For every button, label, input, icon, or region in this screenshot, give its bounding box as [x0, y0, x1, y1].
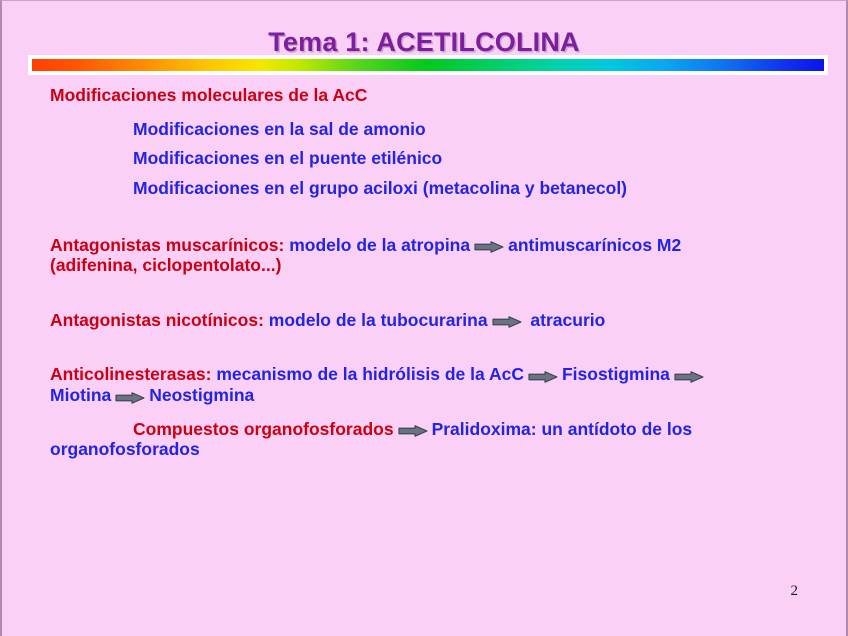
spacer [2, 330, 848, 364]
section1-item-1: Modificaciones en el puente etilénico [2, 148, 848, 169]
section3-label: Antagonistas nicotínicos: [50, 310, 264, 330]
section3-model: modelo de la tubocurarina [264, 310, 488, 330]
block-arrow-right-icon [398, 425, 428, 437]
section4-line: Anticolinesterasas: mecanismo de la hidr… [2, 364, 848, 385]
section5-continuation: organofosforados [2, 439, 848, 460]
title-container: Tema 1: ACETILCOLINA [2, 27, 846, 58]
section4-result-1: Fisostigmina [562, 364, 670, 384]
section2-label: Antagonistas muscarínicos: [50, 235, 284, 255]
rainbow-gradient-bar [32, 59, 824, 71]
section4-model: mecanismo de la hidrólisis de la AcC [211, 364, 524, 384]
spacer [2, 139, 848, 148]
section3-result: atracurio [526, 310, 606, 330]
block-arrow-right-icon [492, 316, 522, 328]
block-arrow-right-icon [115, 392, 145, 404]
section5-label: Compuestos organofosforados [133, 419, 394, 439]
spacer [2, 169, 848, 178]
page-number: 2 [791, 583, 799, 600]
slide-body: Modificaciones moleculares de la AcC Mod… [2, 85, 848, 460]
page-title: Tema 1: ACETILCOLINA [268, 27, 580, 58]
block-arrow-right-icon [674, 371, 704, 383]
section2-result: antimuscarínicos M2 [508, 235, 681, 255]
section5-line: Compuestos organofosforadosPralidoxima: … [2, 419, 848, 440]
section1-item-0: Modificaciones en la sal de amonio [2, 119, 848, 140]
section2-model: modelo de la atropina [284, 235, 470, 255]
block-arrow-right-icon [474, 241, 504, 253]
spacer [2, 276, 848, 310]
section4-line-2: MiotinaNeostigmina [2, 385, 848, 406]
section5-result: Pralidoxima: un antídoto de los [432, 419, 693, 439]
spacer [2, 199, 848, 235]
section1-item-2: Modificaciones en el grupo aciloxi (meta… [2, 178, 848, 199]
section4-label: Anticolinesterasas: [50, 364, 211, 384]
slide: Tema 1: ACETILCOLINA Modificaciones mole… [0, 0, 848, 636]
section2-continuation: (adifenina, ciclopentolato...) [2, 255, 848, 276]
spacer [2, 106, 848, 119]
section2-line: Antagonistas muscarínicos: modelo de la … [2, 235, 848, 256]
section3-line: Antagonistas nicotínicos: modelo de la t… [2, 310, 848, 331]
rainbow-divider [28, 55, 828, 75]
spacer [2, 406, 848, 419]
section1-heading: Modificaciones moleculares de la AcC [2, 85, 848, 106]
section4-result-2: Miotina [50, 385, 111, 405]
block-arrow-right-icon [528, 371, 558, 383]
section4-result-3: Neostigmina [149, 385, 254, 405]
